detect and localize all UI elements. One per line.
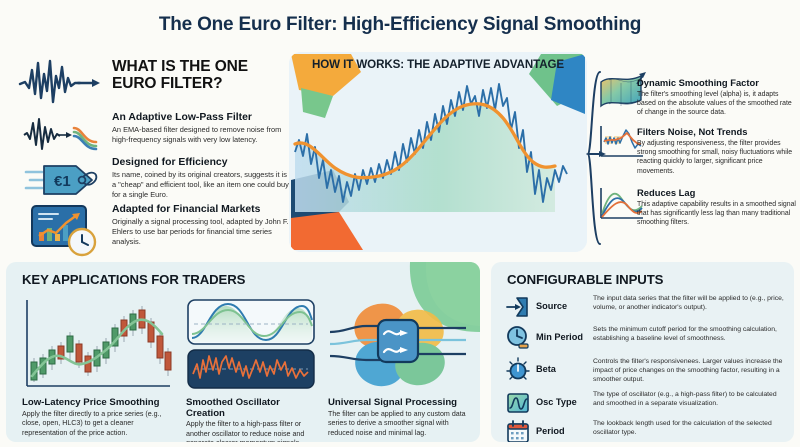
callout-2-body: By adjusting responsiveness, the filter … bbox=[637, 139, 797, 176]
waveform-arrow-icon bbox=[18, 58, 102, 106]
source-arrow-into-box-icon bbox=[505, 294, 531, 320]
input-label-min-period: Min Period bbox=[536, 332, 583, 342]
intro-feature-2: Designed for Efficiency Its name, coined… bbox=[112, 157, 290, 199]
intro-feature-3: Adapted for Financial Markets Originally… bbox=[112, 204, 290, 246]
callout-3: Reduces Lag This adaptive capability res… bbox=[637, 188, 797, 228]
intro-feature-2-body: Its name, coined by its original creator… bbox=[112, 170, 290, 200]
financial-chart-clock-icon bbox=[30, 204, 102, 258]
intro-feature-1-title: An Adaptive Low-Pass Filter bbox=[112, 112, 290, 124]
waveform-smoothing-icon bbox=[22, 115, 104, 155]
configurable-inputs-panel: CONFIGURABLE INPUTS Source The input dat… bbox=[491, 262, 794, 442]
svg-text:€1: €1 bbox=[54, 173, 71, 190]
how-it-works-panel: HOW IT WORKS: THE ADAPTIVE ADVANTAGE bbox=[289, 52, 587, 252]
application-card-3-title: Universal Signal Processing bbox=[328, 398, 470, 409]
callout-2: Filters Noise, Not Trends By adjusting r… bbox=[637, 127, 797, 176]
input-label-beta: Beta bbox=[536, 364, 556, 374]
intro-feature-3-body: Originally a signal processing tool, ada… bbox=[112, 217, 290, 247]
application-card-2: Smoothed Oscillator Creation Apply the f… bbox=[186, 298, 318, 442]
callout-3-body: This adaptive capability results in a sm… bbox=[637, 200, 797, 228]
callout-2-title: Filters Noise, Not Trends bbox=[637, 127, 797, 138]
input-label-osc-type: Osc Type bbox=[536, 397, 577, 407]
callout-1-body: The filter's smoothing level (alpha) is,… bbox=[637, 90, 797, 118]
application-card-3: Universal Signal Processing The filter c… bbox=[328, 298, 470, 438]
intro-heading-line1: WHAT IS THE ONE bbox=[112, 58, 248, 75]
intro-feature-2-title: Designed for Efficiency bbox=[112, 157, 290, 169]
intro-heading-line2: EURO FILTER? bbox=[112, 75, 222, 92]
intro-feature-1: An Adaptive Low-Pass Filter An EMA-based… bbox=[112, 112, 290, 145]
application-card-1: Low-Latency Price Smoothing Apply the fi… bbox=[22, 298, 176, 438]
candlestick-chart-icon bbox=[22, 298, 174, 394]
application-card-2-title: Smoothed Oscillator Creation bbox=[186, 398, 318, 419]
universal-signal-processor-icon bbox=[328, 298, 468, 394]
application-card-1-body: Apply the filter directly to a price ser… bbox=[22, 410, 176, 439]
key-applications-title: KEY APPLICATIONS FOR TRADERS bbox=[22, 272, 245, 287]
input-desc-min-period: Sets the minimum cutoff period for the s… bbox=[593, 325, 789, 343]
how-it-works-callouts: Dynamic Smoothing Factor The filter's sm… bbox=[637, 78, 797, 236]
calendar-period-icon bbox=[505, 419, 531, 442]
intro-feature-3-title: Adapted for Financial Markets bbox=[112, 204, 290, 216]
application-card-1-title: Low-Latency Price Smoothing bbox=[22, 398, 176, 409]
input-desc-period: The lookback length used for the calcula… bbox=[593, 419, 789, 437]
callout-3-title: Reduces Lag bbox=[637, 188, 797, 199]
callout-1-title: Dynamic Smoothing Factor bbox=[637, 78, 797, 89]
input-label-period: Period bbox=[536, 426, 565, 436]
input-desc-beta: Controls the filter's responsivenees. La… bbox=[593, 357, 789, 384]
callout-1: Dynamic Smoothing Factor The filter's sm… bbox=[637, 78, 797, 118]
how-it-works-title: HOW IT WORKS: THE ADAPTIVE ADVANTAGE bbox=[289, 58, 587, 71]
infographic-root: The One Euro Filter: High-Efficiency Sig… bbox=[0, 0, 800, 447]
configurable-inputs-title: CONFIGURABLE INPUTS bbox=[507, 272, 663, 287]
application-card-2-body: Apply the filter to a high-pass filter o… bbox=[186, 420, 318, 442]
clock-min-period-icon bbox=[505, 325, 531, 351]
page-title: The One Euro Filter: High-Efficiency Sig… bbox=[0, 14, 800, 36]
oscillator-smoothing-icon bbox=[186, 298, 316, 394]
euro-price-tag-icon: €1 bbox=[24, 158, 104, 206]
input-desc-source: The input data series that the filter wi… bbox=[593, 294, 789, 312]
input-desc-osc-type: The type of oscillator (e.g., a high-pas… bbox=[593, 390, 789, 408]
intro-feature-1-body: An EMA-based filter designed to remove n… bbox=[112, 125, 290, 145]
application-card-3-body: The filter can be applied to any custom … bbox=[328, 410, 470, 439]
key-applications-panel: KEY APPLICATIONS FOR TRADERS bbox=[6, 262, 480, 442]
oscillator-wave-square-icon bbox=[505, 390, 531, 416]
adaptive-advantage-chart bbox=[289, 52, 587, 252]
intro-section: WHAT IS THE ONE EURO FILTER? An Adaptive… bbox=[8, 52, 286, 252]
intro-heading: WHAT IS THE ONE EURO FILTER? bbox=[112, 58, 292, 93]
input-label-source: Source bbox=[536, 301, 567, 311]
beta-dial-knob-icon bbox=[505, 357, 531, 383]
